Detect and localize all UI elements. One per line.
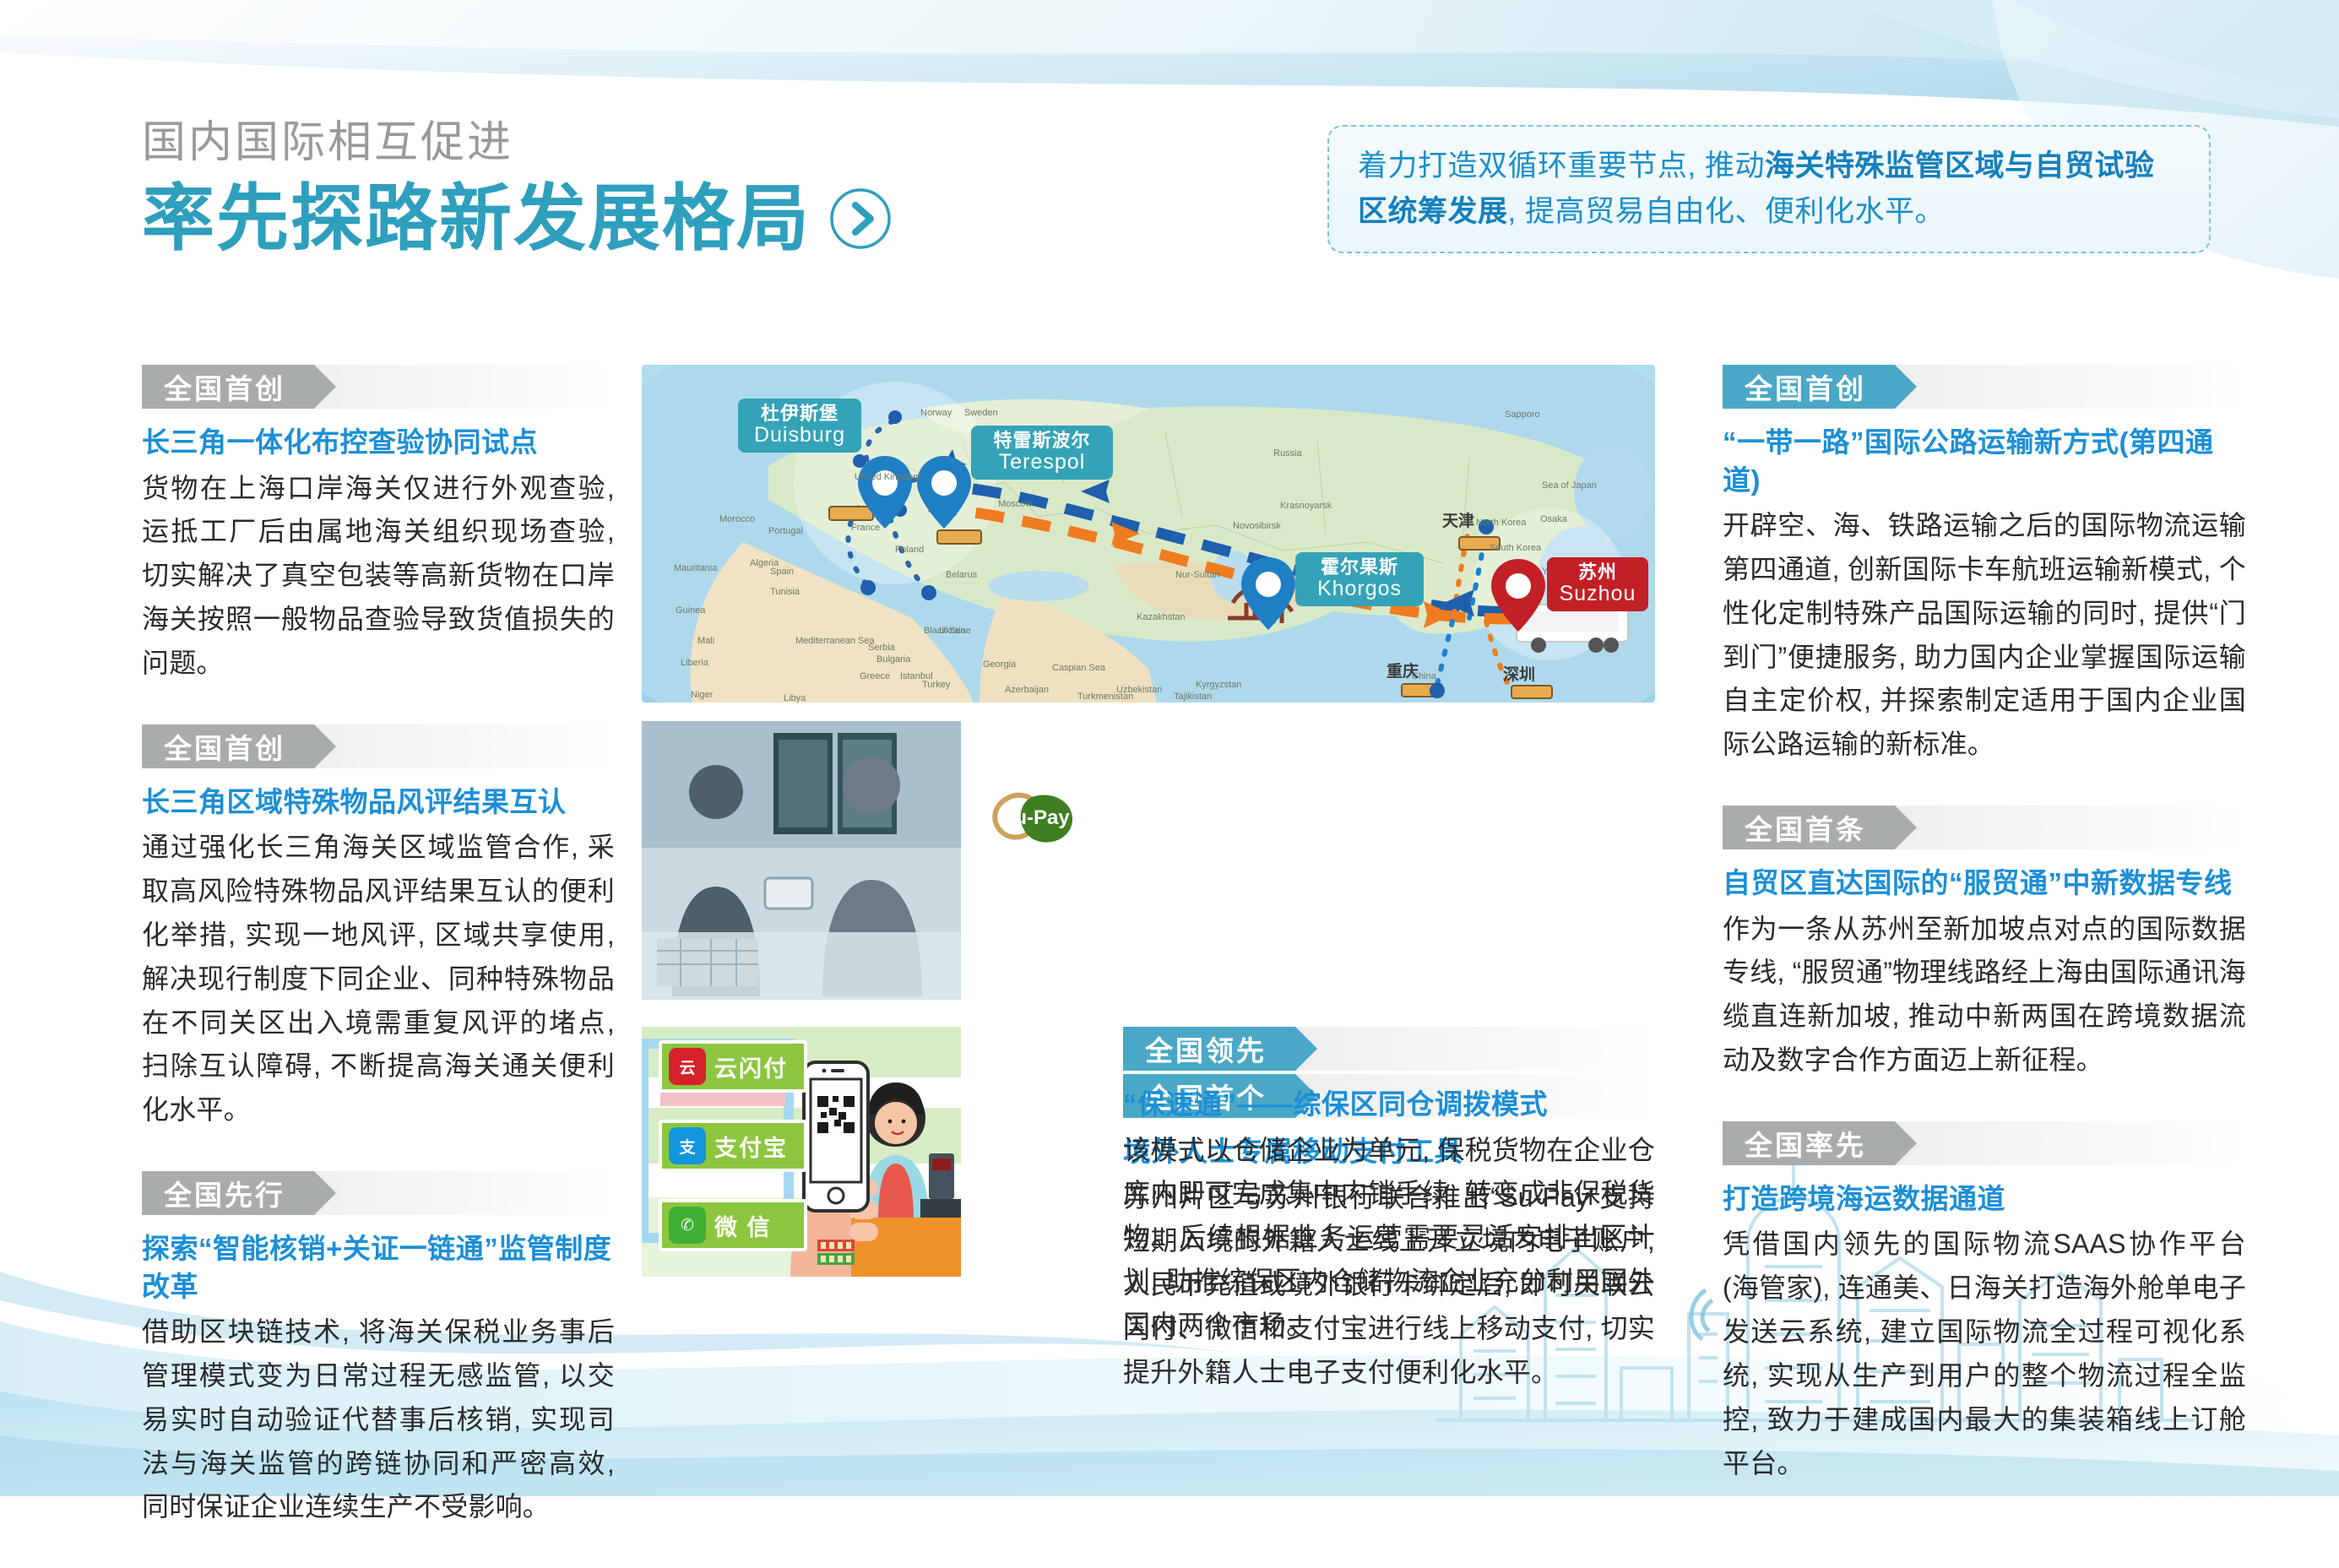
card-left-2: 全国首创 长三角区域特殊物品风评结果互认 通过强化长三角海关区域监管合作, 采取… [142, 724, 615, 1132]
title-row: 率先探路新发展格局 [142, 181, 892, 257]
svg-text:North Korea: North Korea [1476, 518, 1527, 528]
belt-and-road-map-figure: NorwaySweden FinlandRussia PortugalSpain… [642, 365, 1655, 703]
chevron-right-circle-icon[interactable] [829, 187, 892, 250]
map-label-duisburg: 杜伊斯堡 Duisburg [738, 399, 861, 453]
map-label-en: Khorgos [1317, 578, 1402, 601]
left-column: 全国首创 长三角一体化布控查验协同试点 货物在上海口岸海关仅进行外观查验, 运抵… [142, 365, 615, 1568]
svg-text:Russia: Russia [1273, 448, 1303, 458]
card-body: 凭借国内领先的国际物流SAAS协作平台 (海管家), 连通美、日海关打造海外舱单… [1723, 1223, 2246, 1485]
svg-text:Kyrgyzstan: Kyrgyzstan [1196, 680, 1241, 690]
svg-text:Norway: Norway [920, 408, 952, 418]
svg-text:Belarus: Belarus [946, 570, 978, 580]
svg-text:Bulgaria: Bulgaria [876, 654, 911, 665]
pay-row-label: 支付宝 [714, 1130, 788, 1163]
map-city-tianjin: 天津 [1442, 508, 1474, 531]
unionpay-quickpass-icon: 云 [669, 1048, 706, 1085]
svg-text:United Kingdom: United Kingdom [855, 472, 920, 482]
card-title: 长三角区域特殊物品风评结果互认 [142, 784, 615, 822]
tag-wrap: 全国首创 [142, 724, 615, 784]
pay-row-label: 云闪付 [714, 1050, 788, 1083]
status-badge: 全国首条 [1723, 806, 1895, 849]
map-label-khorgos: 霍尔果斯 Khorgos [1295, 552, 1424, 606]
svg-text:Sweden: Sweden [964, 408, 998, 418]
svg-text:Guinea: Guinea [676, 605, 706, 616]
svg-text:Georgia: Georgia [983, 659, 1017, 670]
svg-text:Greece: Greece [860, 671, 890, 681]
map-label-cn: 特雷斯波尔 [993, 431, 1090, 451]
status-badge: 全国首创 [1723, 365, 1895, 409]
pay-row-alipay: 支 支付宝 [659, 1120, 807, 1172]
tag-wrap: 全国首创 [142, 365, 615, 424]
svg-text:Black Sea: Black Sea [924, 626, 966, 636]
right-column: 全国首创 “一带一路”国际公路运输新方式(第四通道) 开辟空、海、铁路运输之后的… [1723, 365, 2246, 1524]
svg-text:Libya: Libya [784, 693, 806, 703]
card-body: 货物在上海口岸海关仅进行外观查验, 运抵工厂后由属地海关组织现场查验, 切实解决… [142, 467, 615, 686]
highlight-banner: 着力打造双循环重要节点, 推动海关特殊监管区域与自贸试验区统筹发展, 提高贸易自… [1327, 125, 2211, 253]
svg-text:Tajikistan: Tajikistan [1174, 692, 1212, 702]
svg-text:Krasnoyarsk: Krasnoyarsk [1280, 501, 1332, 511]
svg-text:Nur-Sultan: Nur-Sultan [1175, 570, 1220, 580]
svg-text:Mali: Mali [697, 636, 714, 646]
su-pay-logo: Su-Pay [973, 785, 1099, 853]
mobile-payment-illustration: 云 云闪付 支 支付宝 ✆ 微 信 [642, 1027, 961, 1277]
tag-wrap: 全国先行 [142, 1171, 615, 1230]
status-badge: 全国先行 [142, 1171, 314, 1215]
middle-column: NorwaySweden FinlandRussia PortugalSpain… [642, 365, 1655, 1289]
title-block: 国内国际相互促进 率先探路新发展格局 [142, 118, 892, 257]
card-left-3: 全国先行 探索“智能核销+关证一链通”监管制度改革 借助区块链技术, 将海关保税… [142, 1171, 615, 1529]
svg-text:Novosibirsk: Novosibirsk [1233, 521, 1281, 531]
card-right-1: 全国首创 “一带一路”国际公路运输新方式(第四通道) 开辟空、海、铁路运输之后的… [1723, 365, 2246, 767]
card-title: 自贸区直达国际的“服贸通”中新数据专线 [1723, 865, 2246, 903]
svg-text:Mediterranean Sea: Mediterranean Sea [795, 636, 875, 646]
card-body: 借助区块链技术, 将海关保税业务事后管理模式变为日常过程无感监管, 以交易实时自… [142, 1310, 615, 1529]
svg-text:Mauritania: Mauritania [674, 563, 718, 573]
card-title: 探索“智能核销+关证一链通”监管制度改革 [142, 1230, 615, 1305]
card-body: 该模式以仓储企业为单元, 保税货物在企业仓库内即可完成集中内销手续, 转变成非保… [1123, 1129, 1655, 1348]
middle-row-1: 全国首个 境外人士专属移动支付工具 苏州片区与苏州银行联合推出“Su-Pay”支… [642, 721, 1655, 1008]
card-middle-2: 全国领先 “保速通”——综保区同仓调拨模式 该模式以仓储企业为单元, 保税货物在… [1123, 1027, 1655, 1348]
card-title: 打造跨境海运数据通道 [1723, 1180, 2246, 1218]
map-label-suzhou: 苏州 Suzhou [1547, 557, 1648, 611]
card-title: “一带一路”国际公路运输新方式(第四通道) [1723, 424, 2246, 499]
map-label-en: Suzhou [1560, 583, 1636, 606]
map-label-cn: 苏州 [1578, 562, 1617, 583]
card-right-2: 全国首条 自贸区直达国际的“服贸通”中新数据专线 作为一条从苏州至新加坡点对点的… [1723, 806, 2246, 1082]
wechat-icon: ✆ [669, 1207, 706, 1244]
svg-text:Morocco: Morocco [719, 514, 755, 524]
svg-text:Moscow: Moscow [998, 499, 1032, 509]
middle-row-2: 云 云闪付 支 支付宝 ✆ 微 信 全国领先 “保速通”——综保区同仓调拨模式 … [642, 1027, 1655, 1289]
card-body: 通过强化长三角海关区域监管合作, 采取高风险特殊物品风评结果互认的便利化举措, … [142, 826, 615, 1132]
card-title: 长三角一体化布控查验协同试点 [142, 424, 615, 462]
card-body: 作为一条从苏州至新加坡点对点的国际数据专线, “服贸通”物理线路经上海由国际通讯… [1723, 908, 2246, 1082]
svg-text:Poland: Poland [895, 545, 924, 555]
svg-text:Turkmenistan: Turkmenistan [1077, 692, 1133, 702]
map-label-en: Duisburg [754, 424, 845, 448]
map-label-terespol: 特雷斯波尔 Terespol [971, 426, 1113, 480]
page-title: 率先探路新发展格局 [142, 181, 811, 257]
svg-text:Osaka: Osaka [1540, 514, 1568, 524]
svg-text:Istanbul: Istanbul [900, 671, 933, 681]
banner-line1-pre: 着力打造双循环重要节点, 推动 [1358, 149, 1765, 182]
map-label-cn: 霍尔果斯 [1321, 557, 1398, 578]
svg-text:Portugal: Portugal [768, 526, 803, 536]
svg-text:Niger: Niger [691, 690, 714, 700]
pay-row-label: 微 信 [714, 1209, 772, 1242]
svg-text:France: France [851, 523, 880, 533]
svg-text:Liberia: Liberia [681, 658, 709, 668]
svg-text:Sea of Japan: Sea of Japan [1542, 480, 1597, 491]
map-city-chongqing: 重庆 [1387, 659, 1419, 681]
svg-text:Sapporo: Sapporo [1505, 410, 1540, 420]
su-pay-logo-text: Su-Pay [1001, 806, 1070, 829]
page-kicker: 国内国际相互促进 [142, 118, 892, 169]
banner-line2-post: , 提高贸易自由化、便利化水平。 [1508, 195, 1945, 228]
map-label-cn: 杜伊斯堡 [761, 404, 838, 424]
card-right-3: 全国率先 打造跨境海运数据通道 凭借国内领先的国际物流SAAS协作平台 (海管家… [1723, 1121, 2246, 1486]
status-badge: 全国首创 [142, 724, 314, 768]
card-left-1: 全国首创 长三角一体化布控查验协同试点 货物在上海口岸海关仅进行外观查验, 运抵… [142, 365, 615, 686]
svg-text:South Korea: South Korea [1490, 543, 1542, 553]
highlight-banner-text: 着力打造双循环重要节点, 推动海关特殊监管区域与自贸试验区统筹发展, 提高贸易自… [1358, 144, 2180, 236]
svg-text:Caspian Sea: Caspian Sea [1052, 663, 1106, 673]
card-title: “保速通”——综保区同仓调拨模式 [1123, 1086, 1655, 1124]
alipay-icon: 支 [669, 1127, 706, 1164]
status-badge: 全国领先 [1123, 1027, 1295, 1071]
status-badge: 全国首创 [142, 365, 314, 409]
svg-text:Kazakhstan: Kazakhstan [1137, 612, 1185, 622]
card-body: 开辟空、海、铁路运输之后的国际物流运输第四通道, 创新国际卡车航班运输新模式, … [1723, 504, 2246, 767]
map-city-shenzhen: 深圳 [1503, 662, 1535, 685]
tag-wrap: 全国领先 [1123, 1027, 1655, 1086]
pay-row-unionpay: 云 云闪付 [659, 1040, 807, 1093]
pay-row-wechat: ✆ 微 信 [659, 1199, 807, 1251]
tag-wrap: 全国率先 [1723, 1121, 2246, 1180]
map-label-en: Terespol [999, 451, 1086, 475]
banner-line2-bold: 统筹发展 [1388, 195, 1508, 228]
page-header: 国内国际相互促进 率先探路新发展格局 着力打造双循环重要节点, 推动海关特殊监管… [0, 0, 2339, 321]
svg-text:Tunisia: Tunisia [770, 587, 800, 597]
svg-text:Algeria: Algeria [750, 558, 779, 568]
foreigner-payment-photo [642, 721, 961, 1000]
swirl-mark [1691, 1290, 1712, 1339]
svg-text:Azerbaijan: Azerbaijan [1005, 685, 1049, 695]
tag-wrap: 全国首条 [1723, 806, 2246, 865]
tag-wrap: 全国首创 [1723, 365, 2246, 424]
status-badge: 全国率先 [1723, 1121, 1895, 1165]
photo-illustration [642, 721, 961, 1000]
